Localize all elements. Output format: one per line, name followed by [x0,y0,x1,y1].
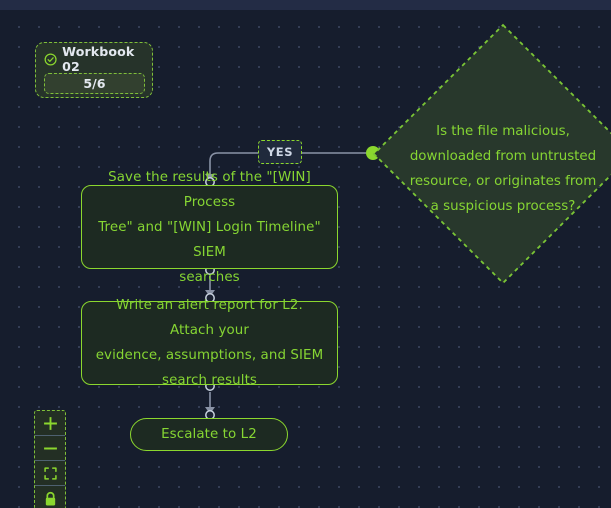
fit-view-button[interactable] [35,461,65,486]
edge-label-yes-text: YES [267,145,293,159]
edge-label-yes[interactable]: YES [258,140,302,164]
decision-label: Is the file malicious, downloaded from u… [408,119,598,219]
lock-button[interactable] [35,486,65,508]
decision-node[interactable]: Is the file malicious, downloaded from u… [372,23,611,285]
lock-icon [43,491,58,507]
canvas-controls-panel[interactable] [34,410,66,508]
plus-icon [42,415,59,432]
workbook-title: Workbook 02 [62,44,145,74]
decision-label-line: downloaded from untrusted [408,144,598,169]
zoom-in-button[interactable] [35,411,65,436]
node-line: search results [93,368,326,393]
workbook-card[interactable]: Workbook 02 5/6 [35,42,153,98]
flow-canvas-app: Is the file malicious, downloaded from u… [0,0,611,508]
workbook-progress-badge: 5/6 [44,73,145,94]
terminator-node-escalate-label: Escalate to L2 [161,422,257,447]
node-line: Write an alert report for L2. Attach you… [93,293,326,343]
process-node-save-results[interactable]: Save the results of the "[WIN] Process T… [81,185,338,269]
node-line: searches [93,265,326,290]
process-node-save-results-label: Save the results of the "[WIN] Process T… [93,165,326,290]
fit-view-icon [43,466,58,481]
workbook-card-header: Workbook 02 [44,49,145,69]
zoom-out-button[interactable] [35,436,65,461]
node-line: evidence, assumptions, and SIEM [93,343,326,368]
check-circle-icon [44,52,57,67]
process-node-alert-report-label: Write an alert report for L2. Attach you… [93,293,326,393]
terminator-node-escalate[interactable]: Escalate to L2 [130,418,288,451]
node-line: Tree" and "[WIN] Login Timeline" SIEM [93,215,326,265]
decision-label-line: a suspicious process? [408,194,598,219]
process-node-alert-report[interactable]: Write an alert report for L2. Attach you… [81,301,338,385]
decision-label-line: resource, or originates from [408,169,598,194]
node-line: Save the results of the "[WIN] Process [93,165,326,215]
decision-label-line: Is the file malicious, [408,119,598,144]
top-bar [0,0,611,10]
workbook-progress-text: 5/6 [83,76,105,91]
minus-icon [42,440,59,457]
